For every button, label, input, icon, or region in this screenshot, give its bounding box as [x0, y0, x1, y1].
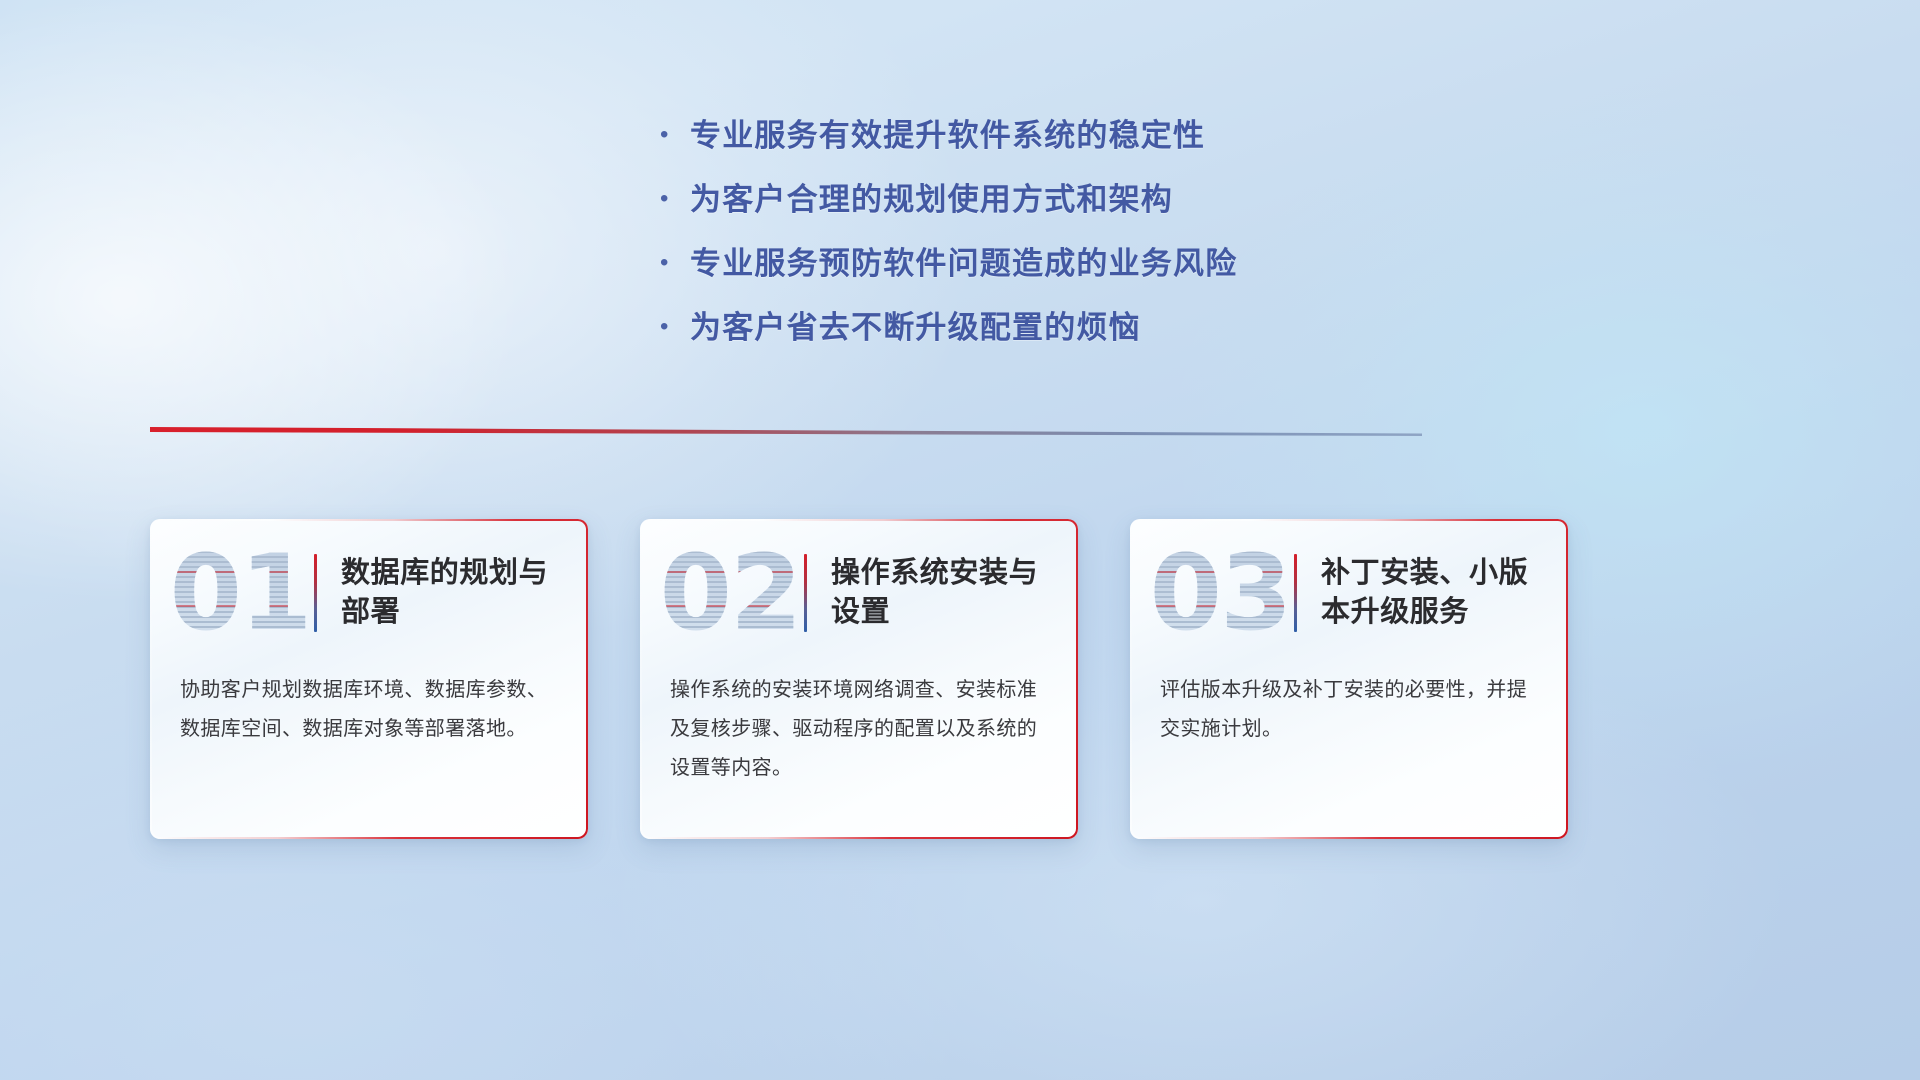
card-body-text: 操作系统的安装环境网络调查、安装标准及复核步骤、驱动程序的配置以及系统的设置等内…: [640, 671, 1078, 788]
card-title: 数据库的规划与部署: [341, 554, 577, 631]
card-accent-bar: [1294, 554, 1297, 632]
card-body-text: 评估版本升级及补丁安装的必要性，并提交实施计划。: [1130, 671, 1568, 749]
list-item: • 为客户省去不断升级配置的烦恼: [660, 302, 1237, 366]
card-number-watermark: 03 03: [1156, 537, 1284, 649]
bullet-text: 为客户合理的规划使用方式和架构: [690, 174, 1173, 219]
section-divider: [150, 418, 1422, 440]
card-number-text: 02: [660, 541, 801, 645]
list-item: • 为客户合理的规划使用方式和架构: [660, 174, 1237, 238]
list-item: • 专业服务预防软件问题造成的业务风险: [660, 238, 1237, 302]
list-item: • 专业服务有效提升软件系统的稳定性: [660, 110, 1237, 174]
card-header: 02 02 操作系统安装与设置: [640, 519, 1078, 667]
bullet-text: 为客户省去不断升级配置的烦恼: [690, 302, 1141, 347]
slide-root: { "bullets": [ { "text": "专业服务有效提升软件系统的稳…: [0, 0, 1920, 1080]
card-header: 03 03 补丁安装、小版本升级服务: [1130, 519, 1568, 667]
bullet-dot-icon: •: [660, 187, 690, 211]
card-number-text: 03: [1150, 541, 1291, 645]
benefits-bullet-list: • 专业服务有效提升软件系统的稳定性 • 为客户合理的规划使用方式和架构 • 专…: [660, 110, 1237, 366]
service-card[interactable]: 01 01 数据库的规划与部署 协助客户规划数据库环境、数据库参数、数据库空间、…: [150, 519, 588, 839]
bullet-text: 专业服务有效提升软件系统的稳定性: [690, 110, 1205, 155]
card-header: 01 01 数据库的规划与部署: [150, 519, 588, 667]
service-card-list: 01 01 数据库的规划与部署 协助客户规划数据库环境、数据库参数、数据库空间、…: [150, 519, 1570, 839]
card-title: 操作系统安装与设置: [831, 554, 1067, 631]
bullet-dot-icon: •: [660, 315, 690, 339]
card-accent-bar: [804, 554, 807, 632]
bullet-dot-icon: •: [660, 123, 690, 147]
card-accent-bar: [314, 554, 317, 632]
divider-shape: [150, 418, 1422, 440]
card-number-watermark: 02 02: [666, 537, 794, 649]
service-card[interactable]: 03 03 补丁安装、小版本升级服务 评估版本升级及补丁安装的必要性，并提交实施…: [1130, 519, 1568, 839]
service-card[interactable]: 02 02 操作系统安装与设置 操作系统的安装环境网络调查、安装标准及复核步骤、…: [640, 519, 1078, 839]
bullet-dot-icon: •: [660, 251, 690, 275]
bullet-text: 专业服务预防软件问题造成的业务风险: [690, 238, 1237, 283]
card-body-text: 协助客户规划数据库环境、数据库参数、数据库空间、数据库对象等部署落地。: [150, 671, 588, 749]
card-title: 补丁安装、小版本升级服务: [1321, 554, 1557, 631]
card-number-text: 01: [170, 541, 311, 645]
card-number-watermark: 01 01: [176, 537, 304, 649]
